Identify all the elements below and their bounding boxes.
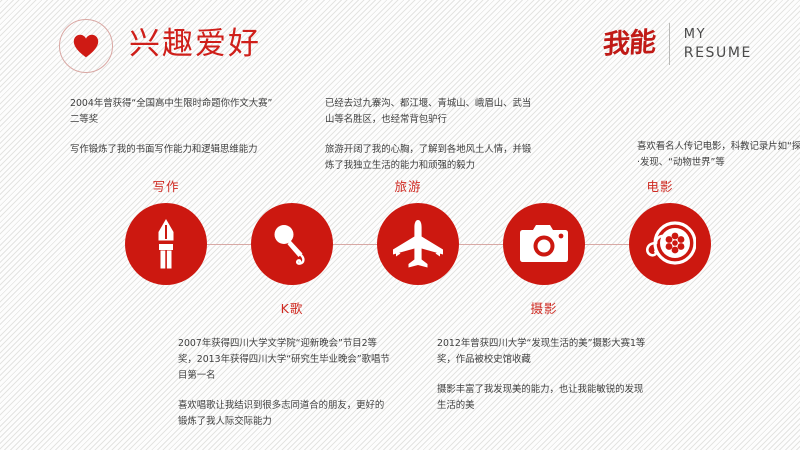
caption-travel: 旅游	[348, 178, 468, 196]
page-title: 兴趣爱好	[129, 21, 261, 67]
travel-para-2: 旅游开阔了我的心胸，了解到各地风土人情，并锻炼了我独立生活的能力和顽强的毅力	[325, 142, 540, 174]
text-block-movie: 喜欢看名人传记电影，科教记录片如“探索·发现、“动物世界”等	[637, 139, 800, 171]
caption-photography: 摄影	[484, 300, 604, 318]
text-block-photography: 2012年曾获四川大学“发现生活的美”摄影大赛1等奖，作品被校史馆收藏 摄影丰富…	[437, 336, 652, 414]
circle-writing[interactable]	[125, 203, 207, 285]
microphone-icon	[269, 221, 315, 267]
ktv-para-1: 2007年获得四川大学文学院“迎新晚会”节目2等奖，2013年获得四川大学“研究…	[178, 336, 393, 384]
brand-divider	[669, 23, 670, 65]
text-block-travel: 已经去过九寨沟、都江堰、青城山、峨眉山、武当山等名胜区，也经常背包驴行 旅游开阔…	[325, 96, 540, 174]
circle-movie[interactable]	[629, 203, 711, 285]
heart-badge	[59, 19, 113, 73]
brand-line1: MY	[684, 25, 752, 44]
travel-para-1: 已经去过九寨沟、都江堰、青城山、峨眉山、武当山等名胜区，也经常背包驴行	[325, 96, 540, 128]
brand-mark: 我能	[602, 28, 662, 61]
ktv-para-2: 喜欢唱歌让我结识到很多志同道合的朋友，更好的锻炼了我人际交际能力	[178, 398, 393, 430]
writing-para-2: 写作锻炼了我的书面写作能力和逻辑思维能力	[70, 142, 280, 158]
slide-canvas: 兴趣爱好 我能 MY RESUME 2004年曾获得“全国高中生限时命题你作文大…	[0, 0, 800, 450]
camera-icon	[519, 224, 569, 264]
airplane-icon	[391, 219, 445, 269]
photography-para-1: 2012年曾获四川大学“发现生活的美”摄影大赛1等奖，作品被校史馆收藏	[437, 336, 652, 368]
heart-icon	[73, 34, 99, 58]
photography-para-2: 摄影丰富了我发现美的能力，也让我能敏锐的发现生活的美	[437, 382, 652, 414]
brand-logo: 我能 MY RESUME	[603, 18, 752, 70]
text-block-writing: 2004年曾获得“全国高中生限时命题你作文大赛”二等奖 写作锻炼了我的书面写作能…	[70, 96, 280, 158]
circle-travel[interactable]	[377, 203, 459, 285]
brand-text: MY RESUME	[684, 25, 752, 63]
writing-para-1: 2004年曾获得“全国高中生限时命题你作文大赛”二等奖	[70, 96, 280, 128]
fountain-pen-icon	[149, 219, 183, 269]
film-reel-icon	[644, 221, 696, 267]
caption-movie: 电影	[600, 178, 720, 196]
movie-para-1: 喜欢看名人传记电影，科教记录片如“探索·发现、“动物世界”等	[637, 139, 800, 171]
caption-writing: 写作	[106, 178, 226, 196]
text-block-ktv: 2007年获得四川大学文学院“迎新晚会”节目2等奖，2013年获得四川大学“研究…	[178, 336, 393, 430]
caption-ktv: K歌	[232, 300, 352, 318]
circle-photography[interactable]	[503, 203, 585, 285]
brand-line2: RESUME	[684, 44, 752, 63]
circle-ktv[interactable]	[251, 203, 333, 285]
